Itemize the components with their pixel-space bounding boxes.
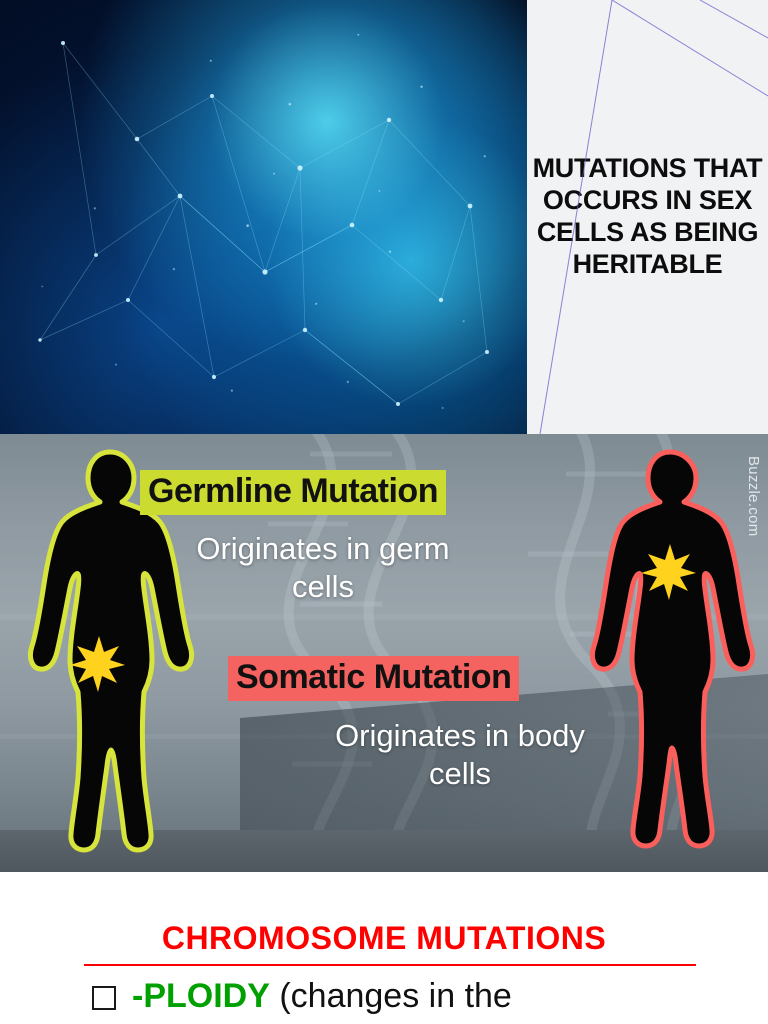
network-lines-overlay — [0, 0, 527, 434]
chromosome-mutations-heading: CHROMOSOME MUTATIONS — [0, 920, 768, 957]
bullet-list-item: -PLOIDY (changes in the — [92, 976, 768, 1024]
network-particles-image — [0, 0, 527, 434]
somatic-description: Originates in body cells — [300, 717, 620, 793]
germline-mutation-badge: Germline Mutation — [140, 470, 446, 515]
bullet-text: -PLOIDY (changes in the — [132, 976, 512, 1016]
bullet-rest-text: (changes in the — [270, 977, 512, 1015]
chromosome-heading-underline — [84, 964, 696, 966]
top-title: MUTATIONS THAT OCCURS IN SEX CELLS AS BE… — [527, 0, 768, 434]
watermark-label: Buzzle.com — [745, 456, 762, 537]
bullet-keyword: -PLOIDY — [132, 977, 270, 1015]
top-title-text: MUTATIONS THAT OCCURS IN SEX CELLS AS BE… — [531, 153, 764, 280]
top-section: MUTATIONS THAT OCCURS IN SEX CELLS AS BE… — [0, 0, 768, 434]
germline-somatic-diagram: Germline Mutation Originates in germ cel… — [0, 434, 768, 872]
somatic-mutation-badge: Somatic Mutation — [228, 656, 519, 701]
checkbox-bullet-icon — [92, 986, 116, 1010]
bottom-section: CHROMOSOME MUTATIONS -PLOIDY (changes in… — [0, 872, 768, 1024]
germline-description: Originates in germ cells — [178, 530, 468, 606]
